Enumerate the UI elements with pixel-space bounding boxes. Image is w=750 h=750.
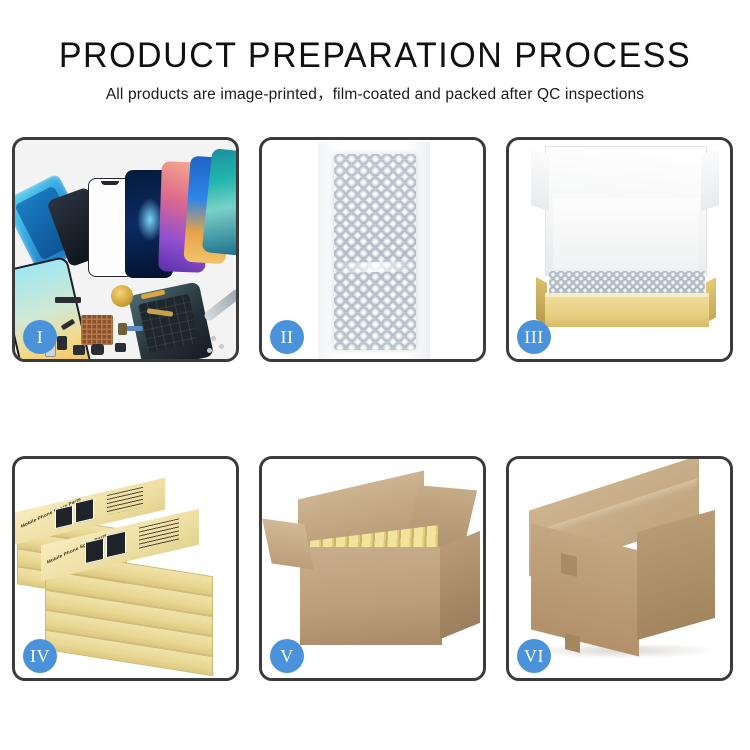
copper-mesh-part-icon	[81, 315, 113, 345]
step-badge-1: I	[23, 320, 57, 354]
foam-sheet-icon	[553, 198, 699, 270]
process-step-panel-4: Mobile Phone Spare Parts Mobile Phone Sp…	[12, 456, 239, 681]
phone-back-cover-opened-icon	[128, 281, 214, 359]
camera-module-part-icon	[91, 344, 104, 355]
small-part-icon	[73, 345, 85, 355]
small-part-icon	[115, 343, 126, 352]
step-badge-2: II	[270, 320, 304, 354]
battery-connector-part-icon	[118, 323, 127, 335]
screw-icon	[219, 344, 224, 349]
carton-side-panel-icon	[440, 531, 480, 639]
screw-icon	[207, 348, 212, 353]
process-step-panel-3: III	[506, 137, 733, 362]
carton-side-panel-icon	[637, 510, 715, 640]
page-header: PRODUCT PREPARATION PROCESS All products…	[0, 0, 750, 104]
step-badge-5: V	[270, 639, 304, 673]
bubble-wrap-sheet-icon	[334, 154, 416, 350]
box-print-photo-icon	[85, 538, 104, 564]
screw-icon	[211, 336, 216, 341]
process-step-panel-1: I	[12, 137, 239, 362]
box-lid-right-flap-icon	[701, 149, 719, 211]
process-step-grid: I II III	[12, 137, 738, 681]
box-print-photo-icon	[55, 505, 73, 529]
box-print-photo-icon	[75, 498, 94, 523]
page-title: PRODUCT PREPARATION PROCESS	[11, 36, 739, 76]
step-badge-4: IV	[23, 639, 57, 673]
page-subtitle: All products are image-printed，film-coat…	[0, 85, 750, 104]
plastic-bag-icon	[318, 142, 430, 359]
box-print-text-lines	[139, 518, 179, 549]
speaker-coil-part-icon	[111, 285, 133, 307]
box-print-text-lines	[107, 487, 143, 515]
earpiece-part-icon	[55, 297, 81, 303]
carton-tab-icon	[561, 553, 577, 577]
process-step-panel-6: VI	[506, 456, 733, 681]
box-lid-left-flap-icon	[531, 149, 549, 211]
carton-front-panel-icon	[300, 547, 442, 645]
box-front-panel-icon	[545, 297, 709, 327]
process-step-panel-5: V	[259, 456, 486, 681]
small-part-icon	[57, 336, 67, 350]
step-badge-6: VI	[517, 639, 551, 673]
step-badge-3: III	[517, 320, 551, 354]
process-step-panel-2: II	[259, 137, 486, 362]
tweezers-icon	[203, 288, 236, 323]
carton-tab-icon	[565, 633, 580, 653]
box-print-photo-icon	[106, 531, 126, 559]
